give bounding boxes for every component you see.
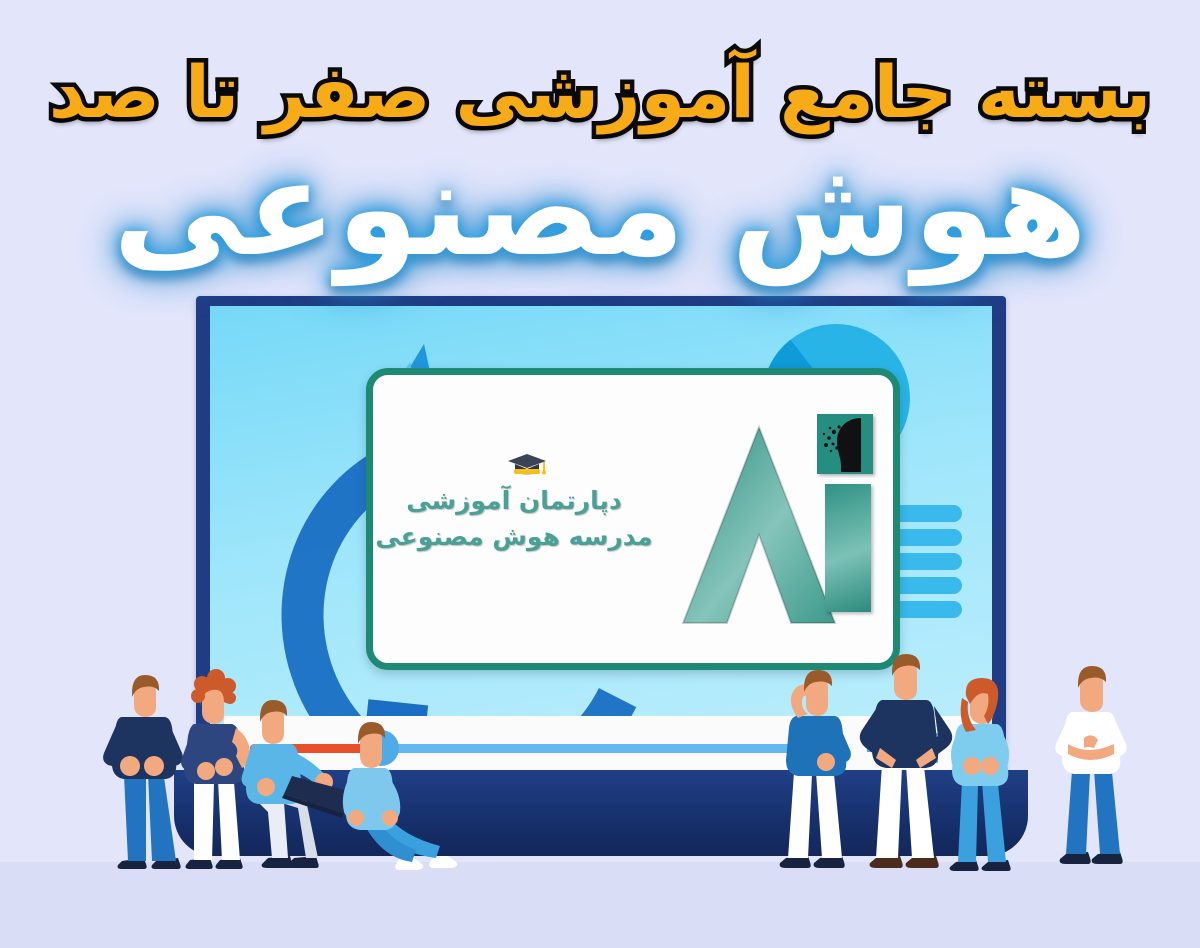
banner-stage: دپارتمان آموزشی مدرسه هوش مصنوعی xyxy=(0,0,1200,948)
logo-line-school: مدرسه هوش مصنوعی xyxy=(373,519,655,555)
headline-top: بسته جامع آموزشی صفر تا صد xyxy=(0,56,1200,128)
headline-block: بسته جامع آموزشی صفر تا صد هوش مصنوعی xyxy=(0,0,1200,277)
logo-card: دپارتمان آموزشی مدرسه هوش مصنوعی xyxy=(366,368,900,670)
person-woman-light-blue-top xyxy=(932,672,1032,872)
letter-a-shape xyxy=(683,427,835,623)
logo-line-department: دپارتمان آموزشی xyxy=(373,483,655,519)
ai-logo-mark xyxy=(679,402,879,637)
head-profile-icon xyxy=(817,414,873,474)
logo-text-block: دپارتمان آموزشی مدرسه هوش مصنوعی xyxy=(373,483,661,556)
man-white-shirt-arms-crossed xyxy=(1040,660,1144,866)
person-man-white-shirt-arms-crossed xyxy=(1040,660,1144,866)
letter-i-stem xyxy=(825,484,871,612)
man-sitting-on-floor xyxy=(330,712,470,874)
ai-head-silhouette-icon xyxy=(817,414,873,474)
floor-strip xyxy=(0,862,1200,948)
person-man-sitting-on-floor xyxy=(330,712,470,874)
headline-main: هوش مصنوعی xyxy=(0,142,1200,277)
woman-light-blue-top xyxy=(932,672,1032,872)
graduation-cap-icon xyxy=(507,453,547,479)
